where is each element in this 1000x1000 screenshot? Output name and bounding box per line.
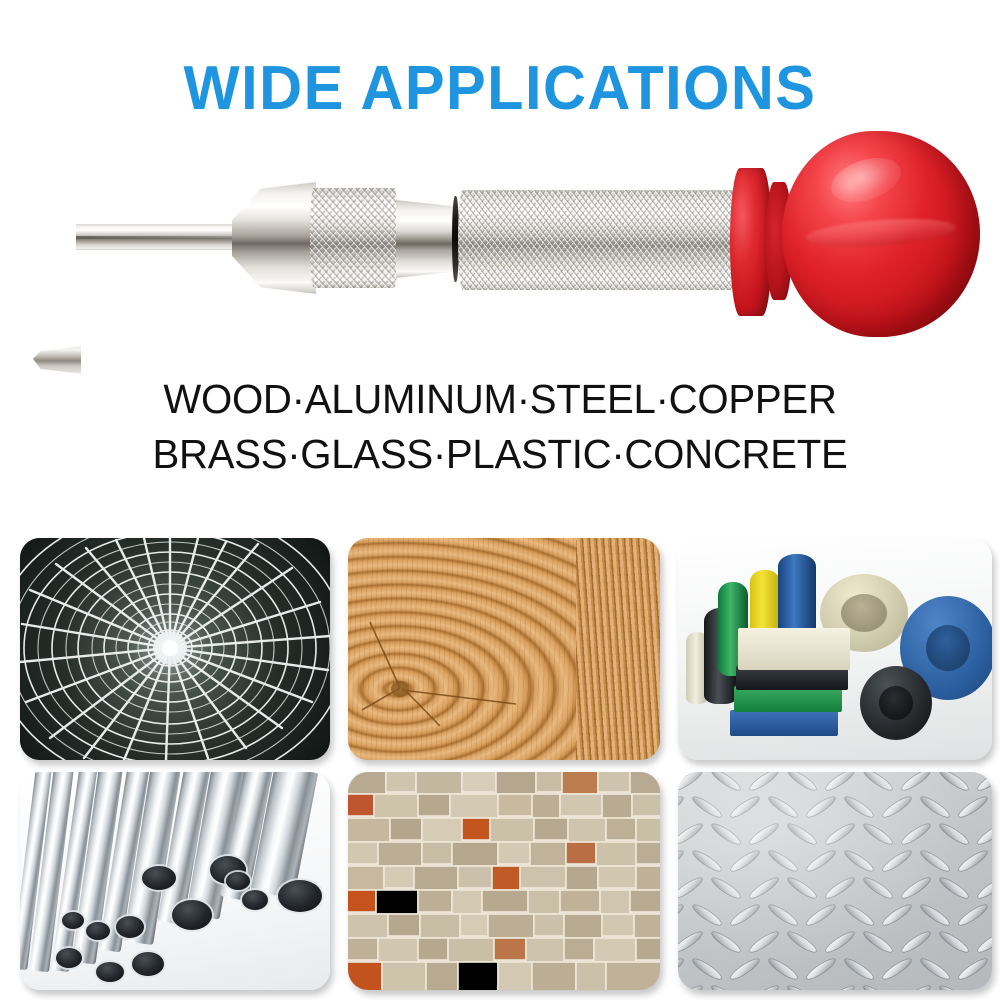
plastic-tube-black xyxy=(860,666,932,740)
punch-knurled-grip xyxy=(310,188,398,288)
plastic-tube-cream-bore xyxy=(841,594,887,632)
glass-crack-lines xyxy=(20,538,330,760)
material-list-line-2: BRASS·GLASS·PLASTIC·CONCRETE xyxy=(10,427,990,482)
steel-pipe-opening xyxy=(172,900,212,930)
photo-tile-stone-wall xyxy=(348,772,660,990)
steel-pipe-opening xyxy=(242,890,268,910)
product-image-center-punch xyxy=(0,120,1000,350)
punch-tip xyxy=(33,345,81,375)
plastic-stock-image xyxy=(678,538,992,760)
steel-tubes-image xyxy=(20,772,330,990)
punch-nose-cone xyxy=(232,182,316,294)
wood-crack-lines xyxy=(348,538,660,760)
broken-glass-image xyxy=(20,538,330,760)
steel-pipe-opening xyxy=(116,916,144,938)
material-list-line-1: WOOD·ALUMINUM·STEEL·COPPER xyxy=(10,372,990,427)
steel-pipe-opening xyxy=(226,872,250,890)
page-title: WIDE APPLICATIONS xyxy=(20,58,980,120)
photo-tile-plastic xyxy=(678,538,992,760)
stone-blocks xyxy=(348,772,660,990)
steel-pipe-opening xyxy=(56,948,82,968)
steel-pipe-opening xyxy=(142,866,176,890)
metal-sheen xyxy=(678,772,992,990)
punch-shaft xyxy=(76,224,246,250)
punch-tip-cone xyxy=(33,345,81,375)
diamond-plate-image xyxy=(678,772,992,990)
steel-pipe-opening xyxy=(132,952,164,976)
application-photo-grid xyxy=(0,532,1000,1000)
photo-tile-wood xyxy=(348,538,660,760)
stone-wall-image xyxy=(348,772,660,990)
photo-tile-broken-glass xyxy=(20,538,330,760)
steel-pipe-opening xyxy=(96,962,124,982)
plastic-tube-black-bore xyxy=(879,686,913,720)
wood-grain-image xyxy=(348,538,660,760)
steel-pipe-opening xyxy=(86,922,110,940)
material-list: WOOD·ALUMINUM·STEEL·COPPER BRASS·GLASS·P… xyxy=(0,372,1000,482)
steel-pipe-opening xyxy=(62,912,84,929)
product-info-graphic: WIDE APPLICATIONS WOOD·ALUMINUM·STEEL·CO… xyxy=(0,0,1000,1000)
punch-knurled-barrel xyxy=(458,190,738,290)
steel-pipe-opening xyxy=(278,880,322,912)
plastic-sheet-blue xyxy=(730,710,838,736)
knurl-texture xyxy=(310,188,398,288)
plastic-sheet-cream xyxy=(738,628,850,670)
photo-tile-steel-tubes xyxy=(20,772,330,990)
punch-waist xyxy=(396,200,454,278)
knurl-texture xyxy=(458,190,738,290)
plastic-tube-blue-bore xyxy=(926,625,970,671)
photo-tile-diamond-plate xyxy=(678,772,992,990)
